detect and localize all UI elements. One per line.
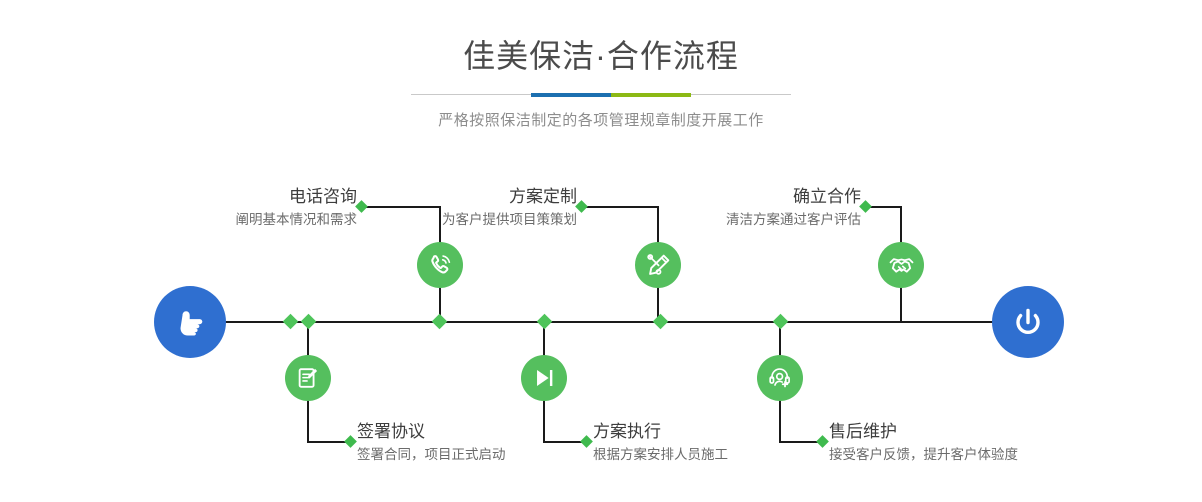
support-agent-icon bbox=[767, 365, 793, 391]
label-marker-5 bbox=[859, 200, 872, 213]
pencil-design-icon bbox=[645, 252, 672, 279]
step-label-5: 确立合作 清洁方案通过客户评估 bbox=[560, 186, 861, 230]
step-label-3: 方案定制 为客户提供项目策策划 bbox=[315, 186, 577, 230]
connector-horizontal-1 bbox=[363, 206, 441, 208]
step-title-6: 售后维护 bbox=[829, 421, 1018, 443]
step-desc-4: 根据方案安排人员施工 bbox=[593, 445, 728, 465]
step-icon-4 bbox=[521, 355, 567, 401]
axis-marker-3 bbox=[432, 314, 448, 330]
axis-marker-4 bbox=[537, 314, 553, 330]
axis-marker-2 bbox=[301, 314, 317, 330]
step-label-6: 售后维护 接受客户反馈，提升客户体验度 bbox=[829, 421, 1018, 465]
axis-marker-1 bbox=[283, 314, 299, 330]
step-desc-5: 清洁方案通过客户评估 bbox=[560, 210, 861, 230]
axis-marker-5 bbox=[653, 314, 669, 330]
step-desc-6: 接受客户反馈，提升客户体验度 bbox=[829, 445, 1018, 465]
step-desc-3: 为客户提供项目策策划 bbox=[315, 210, 577, 230]
timeline-axis bbox=[170, 321, 1032, 323]
connector-horizontal-3 bbox=[583, 206, 659, 208]
phone-call-icon bbox=[427, 252, 454, 279]
divider-segment-green bbox=[611, 93, 691, 97]
step-label-2: 签署协议 签署合同，项目正式启动 bbox=[357, 421, 506, 465]
label-marker-6 bbox=[816, 435, 829, 448]
connector-horizontal-5 bbox=[867, 206, 902, 208]
label-marker-4 bbox=[580, 435, 593, 448]
page-subtitle: 严格按照保洁制定的各项管理规章制度开展工作 bbox=[0, 110, 1202, 132]
page-title: 佳美保洁·合作流程 bbox=[0, 36, 1202, 76]
title-divider bbox=[411, 90, 791, 100]
step-title-3: 方案定制 bbox=[315, 186, 577, 208]
step-desc-2: 签署合同，项目正式启动 bbox=[357, 445, 506, 465]
document-edit-icon bbox=[295, 365, 321, 391]
step-title-4: 方案执行 bbox=[593, 421, 728, 443]
step-icon-2 bbox=[285, 355, 331, 401]
power-icon bbox=[1008, 302, 1048, 342]
divider-segment-blue bbox=[531, 93, 611, 97]
step-title-2: 签署协议 bbox=[357, 421, 506, 443]
timeline-start-node bbox=[154, 286, 226, 358]
step-icon-3 bbox=[635, 242, 681, 288]
step-icon-6 bbox=[757, 355, 803, 401]
step-label-4: 方案执行 根据方案安排人员施工 bbox=[593, 421, 728, 465]
handshake-icon bbox=[888, 252, 915, 279]
header: 佳美保洁·合作流程 严格按照保洁制定的各项管理规章制度开展工作 bbox=[0, 0, 1202, 132]
process-timeline: 电话咨询 阐明基本情况和需求 签署协议 签署合同，项目正式启动 bbox=[0, 150, 1202, 502]
pointing-hand-icon bbox=[170, 302, 210, 342]
play-skip-icon bbox=[531, 365, 557, 391]
step-icon-5 bbox=[878, 242, 924, 288]
cooperation-process-infographic: 佳美保洁·合作流程 严格按照保洁制定的各项管理规章制度开展工作 bbox=[0, 0, 1202, 502]
step-icon-1 bbox=[417, 242, 463, 288]
axis-marker-6 bbox=[773, 314, 789, 330]
step-title-5: 确立合作 bbox=[560, 186, 861, 208]
label-marker-2 bbox=[344, 435, 357, 448]
timeline-end-node bbox=[992, 286, 1064, 358]
